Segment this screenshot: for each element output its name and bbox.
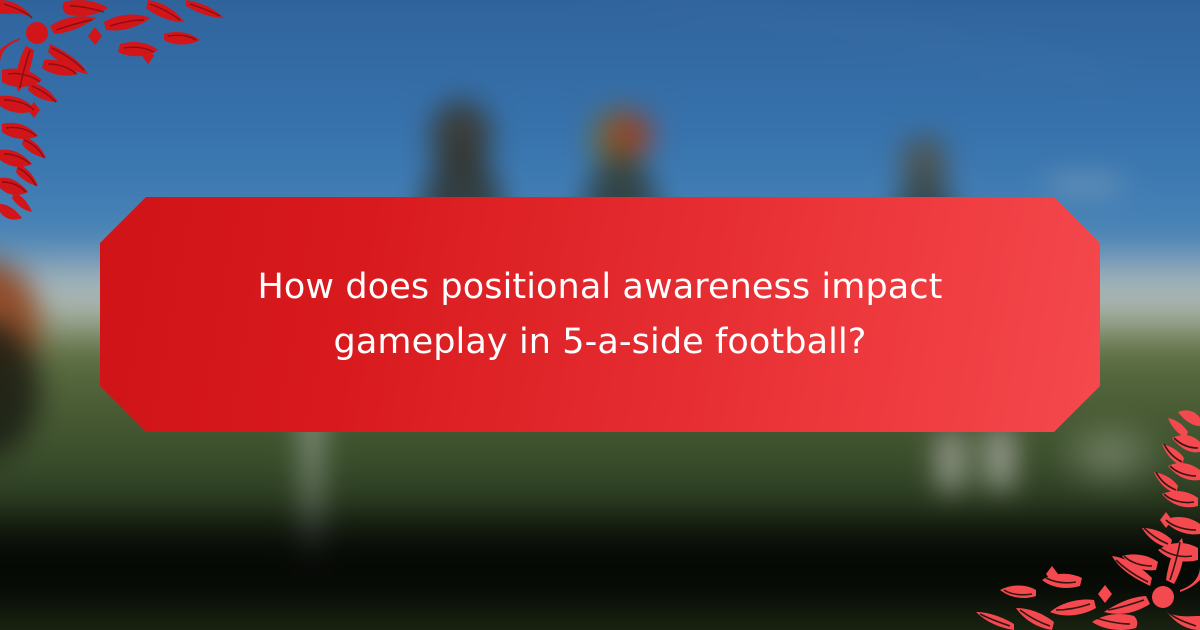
share-card: How does positional awareness impact gam… bbox=[0, 0, 1200, 630]
question-banner: How does positional awareness impact gam… bbox=[100, 197, 1100, 432]
blurred-player-sock bbox=[938, 430, 964, 492]
blurred-player-kit bbox=[608, 112, 654, 156]
page-title: How does positional awareness impact gam… bbox=[194, 260, 1007, 369]
foreground-shadow-band bbox=[0, 500, 1200, 628]
goal-crossbar bbox=[1050, 178, 1120, 190]
blurred-player-sock bbox=[986, 426, 1014, 490]
background-highlight bbox=[1050, 415, 1170, 495]
